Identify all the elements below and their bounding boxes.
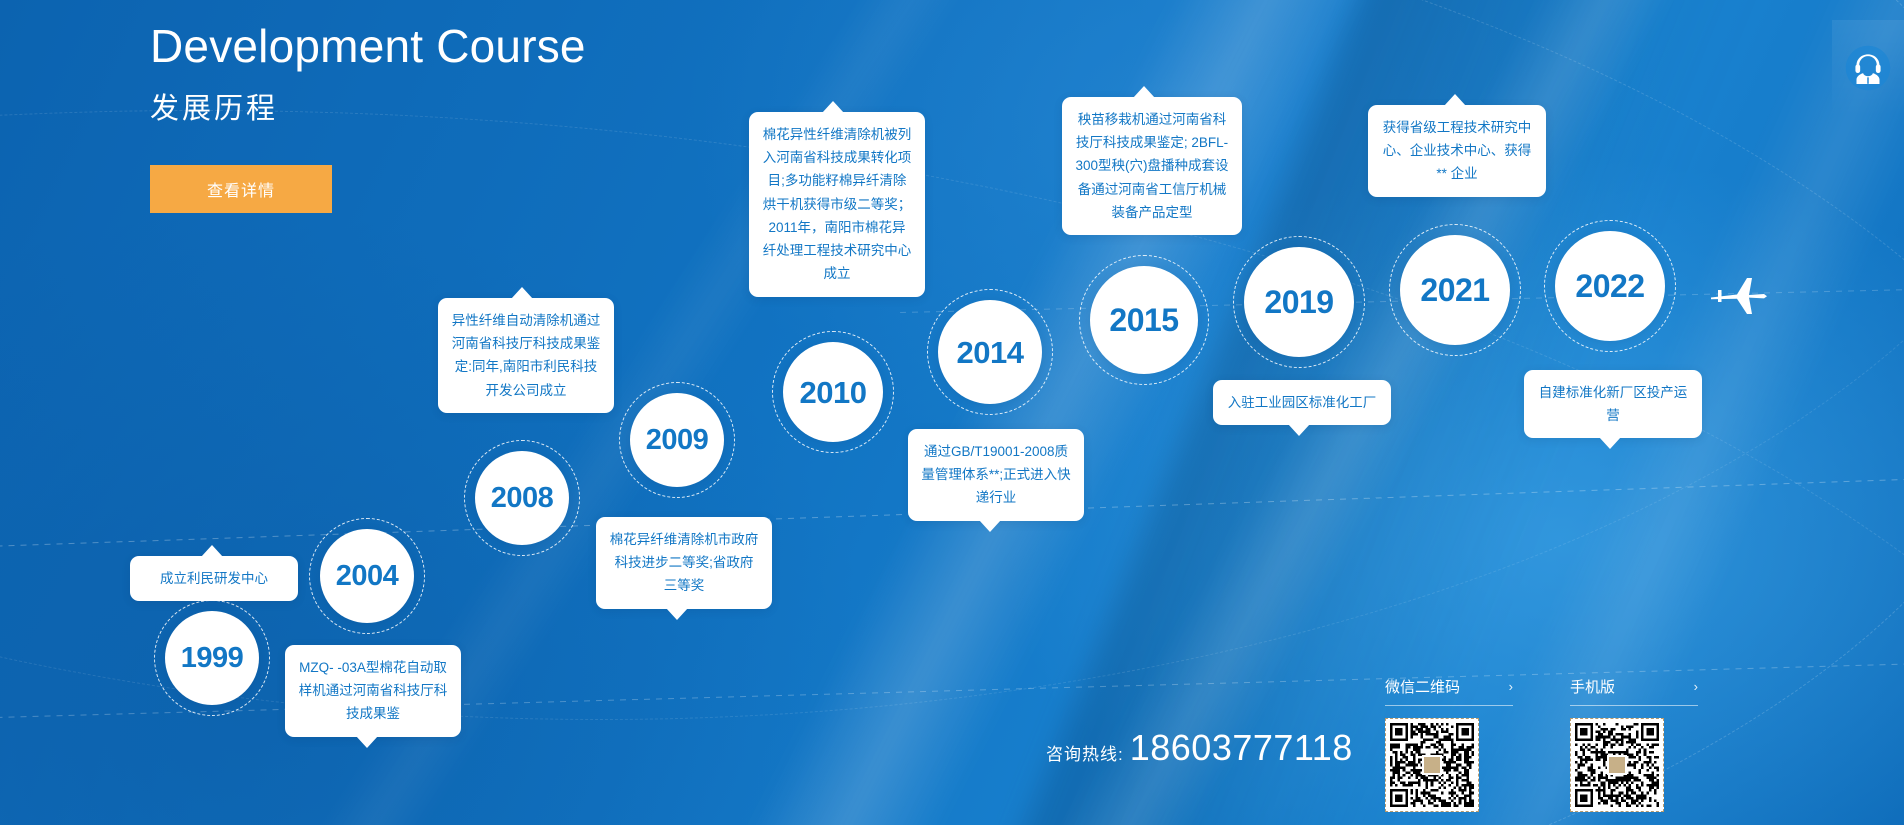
timeline-year-circle-2008[interactable]: 2008: [475, 451, 569, 545]
timeline-year-circle-2015[interactable]: 2015: [1090, 266, 1198, 374]
timeline-year-circle-2019[interactable]: 2019: [1244, 247, 1354, 357]
card-pointer: [1288, 424, 1310, 436]
timeline-card-2021[interactable]: 获得省级工程技术研究中心、企业技术中心、获得** 企业: [1368, 105, 1546, 197]
qr-wechat-header[interactable]: 微信二维码 ›: [1385, 676, 1513, 706]
customer-service-button[interactable]: [1832, 20, 1904, 116]
hotline-number[interactable]: 18603777118: [1130, 727, 1353, 769]
timeline-year-label: 2009: [646, 426, 709, 455]
timeline-card-text: 通过GB/T19001-2008质量管理体系**;正式进入快递行业: [921, 444, 1070, 505]
timeline-year-circle-2004[interactable]: 2004: [320, 529, 414, 623]
qr-wechat-logo: [1422, 755, 1442, 775]
qr-mobile-label: 手机版: [1570, 676, 1615, 697]
timeline-year-label: 2019: [1264, 286, 1333, 318]
card-pointer: [356, 736, 378, 748]
timeline-year-circle-2014[interactable]: 2014: [938, 300, 1042, 404]
timeline-card-1999[interactable]: 成立利民研发中心: [130, 556, 298, 601]
timeline-card-2004[interactable]: MZQ- -03A型棉花自动取样机通过河南省科技厅科技成果鉴: [285, 645, 461, 737]
timeline-card-text: MZQ- -03A型棉花自动取样机通过河南省科技厅科技成果鉴: [299, 660, 448, 721]
qr-mobile-image: [1570, 718, 1664, 812]
timeline-year-circle-2021[interactable]: 2021: [1400, 235, 1510, 345]
card-pointer: [201, 545, 223, 557]
timeline-card-2014[interactable]: 通过GB/T19001-2008质量管理体系**;正式进入快递行业: [908, 429, 1084, 521]
timeline-card-2008[interactable]: 异性纤维自动清除机通过河南省科技厅科技成果鉴定:同年,南阳市利民科技开发公司成立: [438, 298, 614, 413]
timeline-card-text: 自建标准化新厂区投产运营: [1539, 385, 1688, 423]
timeline-card-text: 异性纤维自动清除机通过河南省科技厅科技成果鉴定:同年,南阳市利民科技开发公司成立: [452, 313, 601, 398]
timeline-card-2019[interactable]: 入驻工业园区标准化工厂: [1213, 380, 1391, 425]
card-pointer: [1444, 94, 1466, 106]
qr-wechat-image: [1385, 718, 1479, 812]
page-title-cn: 发展历程: [150, 85, 586, 127]
timeline-year-label: 2014: [957, 337, 1024, 368]
timeline-year-label: 2015: [1109, 304, 1178, 336]
timeline-year-label: 2008: [491, 484, 554, 513]
hotline-label: 咨询热线:: [1046, 740, 1124, 765]
view-details-button[interactable]: 查看详情: [150, 165, 332, 213]
qr-mobile-header[interactable]: 手机版 ›: [1570, 676, 1698, 706]
timeline-year-label: 2021: [1420, 274, 1489, 306]
timeline-card-2010[interactable]: 棉花异性纤维清除机被列入河南省科技成果转化项目;多功能籽棉异纤清除烘干机获得市级…: [749, 112, 925, 297]
page-header: Development Course 发展历程 查看详情: [150, 20, 586, 213]
timeline-card-text: 获得省级工程技术研究中心、企业技术中心、获得** 企业: [1383, 120, 1532, 181]
card-pointer: [1599, 437, 1621, 449]
airplane-icon: [1707, 274, 1769, 318]
timeline-card-text: 棉花异性纤维清除机被列入河南省科技成果转化项目;多功能籽棉异纤清除烘干机获得市级…: [763, 127, 912, 281]
timeline-year-circle-2009[interactable]: 2009: [630, 393, 724, 487]
timeline-card-2009[interactable]: 棉花异纤维清除机市政府科技进步二等奖;省政府三等奖: [596, 517, 772, 609]
page-title-en: Development Course: [150, 20, 586, 73]
chevron-right-icon: ›: [1509, 679, 1513, 694]
timeline-year-label: 2022: [1575, 270, 1644, 302]
timeline-year-circle-2010[interactable]: 2010: [783, 342, 883, 442]
chevron-right-icon: ›: [1694, 679, 1698, 694]
card-pointer: [822, 101, 844, 113]
qr-wechat-label: 微信二维码: [1385, 676, 1460, 697]
card-pointer: [511, 287, 533, 299]
timeline-year-label: 1999: [181, 644, 244, 673]
timeline-card-text: 棉花异纤维清除机市政府科技进步二等奖;省政府三等奖: [610, 532, 759, 593]
timeline-year-label: 2010: [800, 377, 867, 408]
timeline-card-2022[interactable]: 自建标准化新厂区投产运营: [1524, 370, 1702, 438]
timeline-card-text: 秧苗移栽机通过河南省科技厅科技成果鉴定; 2BFL- 300型秧(穴)盘播种成套…: [1075, 112, 1228, 220]
development-course-banner: Development Course 发展历程 查看详情 1999成立利民研发中…: [0, 0, 1904, 825]
card-pointer: [979, 520, 1001, 532]
card-pointer: [1133, 86, 1155, 98]
timeline-year-circle-1999[interactable]: 1999: [165, 611, 259, 705]
timeline-year-circle-2022[interactable]: 2022: [1555, 231, 1665, 341]
timeline-card-text: 入驻工业园区标准化工厂: [1228, 395, 1377, 410]
timeline-card-2015[interactable]: 秧苗移栽机通过河南省科技厅科技成果鉴定; 2BFL- 300型秧(穴)盘播种成套…: [1062, 97, 1242, 235]
qr-mobile: 手机版 ›: [1570, 676, 1698, 812]
card-pointer: [666, 608, 688, 620]
headset-operator-icon: [1845, 45, 1891, 91]
qr-wechat: 微信二维码 ›: [1385, 676, 1513, 812]
timeline-card-text: 成立利民研发中心: [160, 571, 268, 586]
hotline: 咨询热线: 18603777118: [1046, 727, 1353, 769]
qr-mobile-logo: [1607, 755, 1627, 775]
timeline-year-label: 2004: [336, 562, 399, 591]
